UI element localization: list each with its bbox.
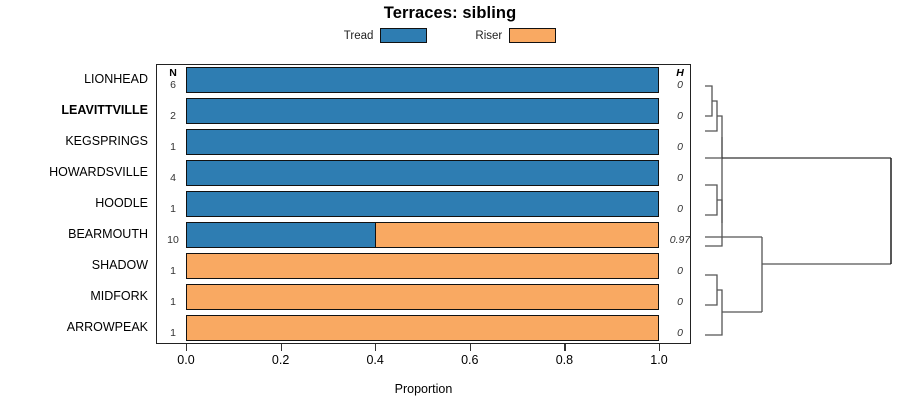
n-value-leavittville: 2 [160,110,186,122]
row-label-lionhead: LIONHEAD [0,72,148,86]
n-value-kegsprings: 1 [160,141,186,153]
n-value-arrowpeak: 1 [160,327,186,339]
h-value-leavittville: 0 [663,110,697,122]
h-column-header: H [663,67,697,79]
x-tick-label: 0.8 [539,353,589,367]
bar-segment-tread [187,68,658,92]
bar-segment-tread [187,99,658,123]
x-tick-label: 0.2 [256,353,306,367]
x-tick-label: 0.0 [161,353,211,367]
x-tick-label: 1.0 [634,353,684,367]
h-value-howardsville: 0 [663,172,697,184]
h-value-lionhead: 0 [663,79,697,91]
bar-shadow[interactable] [186,253,659,279]
bar-kegsprings[interactable] [186,129,659,155]
x-tick-mark [564,344,565,351]
legend-label-riser: Riser [475,30,502,42]
chart-canvas: Terraces: sibling Tread Riser LIONHEADLE… [0,0,900,420]
row-label-howardsville: HOWARDSVILLE [0,165,148,179]
n-value-lionhead: 6 [160,79,186,91]
row-label-bearmouth: BEARMOUTH [0,227,148,241]
bar-howardsville[interactable] [186,160,659,186]
n-value-howardsville: 4 [160,172,186,184]
x-tick-label: 0.4 [350,353,400,367]
legend-swatch-tread [380,28,427,43]
n-value-midfork: 1 [160,296,186,308]
h-value-hoodle: 0 [663,203,697,215]
n-value-hoodle: 1 [160,203,186,215]
x-tick-mark [470,344,471,351]
bar-arrowpeak[interactable] [186,315,659,341]
bar-lionhead[interactable] [186,67,659,93]
n-value-shadow: 1 [160,265,186,277]
h-value-shadow: 0 [663,265,697,277]
x-tick-mark [659,344,660,351]
bar-segment-tread [187,130,658,154]
bar-segment-tread [187,223,376,247]
bar-hoodle[interactable] [186,191,659,217]
row-label-midfork: MIDFORK [0,289,148,303]
dendrogram [695,60,900,350]
row-label-shadow: SHADOW [0,258,148,272]
bar-segment-riser [187,254,658,278]
legend: Tread Riser [0,28,900,43]
legend-item-riser: Riser [475,28,556,43]
page-title: Terraces: sibling [0,4,900,23]
x-tick-mark [375,344,376,351]
x-tick-mark [186,344,187,351]
bar-segment-tread [187,161,658,185]
legend-item-tread: Tread [344,28,428,43]
h-value-midfork: 0 [663,296,697,308]
bar-segment-riser [187,316,658,340]
h-value-arrowpeak: 0 [663,327,697,339]
x-tick-mark [281,344,282,351]
row-label-hoodle: HOODLE [0,196,148,210]
bar-segment-tread [187,192,658,216]
x-axis-title: Proportion [156,382,691,396]
legend-label-tread: Tread [344,30,374,42]
legend-swatch-riser [509,28,556,43]
x-tick-label: 0.6 [445,353,495,367]
row-label-kegsprings: KEGSPRINGS [0,134,148,148]
row-label-arrowpeak: ARROWPEAK [0,320,148,334]
bar-bearmouth[interactable] [186,222,659,248]
bar-leavittville[interactable] [186,98,659,124]
n-value-bearmouth: 10 [160,234,186,246]
row-label-leavittville: LEAVITTVILLE [0,103,148,117]
bar-midfork[interactable] [186,284,659,310]
bar-segment-riser [187,285,658,309]
n-column-header: N [160,67,186,79]
bar-segment-riser [376,223,658,247]
h-value-kegsprings: 0 [663,141,697,153]
h-value-bearmouth: 0.97 [663,234,697,246]
